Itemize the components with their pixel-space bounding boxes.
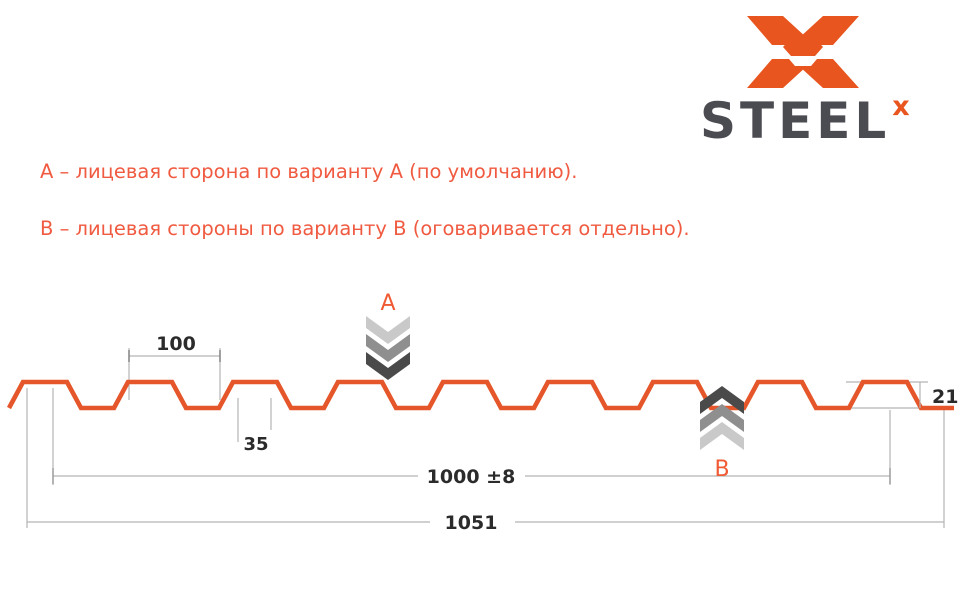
dimension-label-valley: 35 — [243, 434, 268, 455]
steelx-x-mark-icon — [745, 14, 861, 90]
brand-logo: STEEL x — [700, 14, 940, 146]
dimension-valley-35: 35 — [240, 430, 272, 455]
technical-drawing: 100 35 21 1000 ±8 1051 А — [0, 270, 970, 555]
marker-a-letter: А — [380, 291, 395, 316]
brand-wordmark-text: STEEL — [700, 96, 890, 146]
extension-lines — [27, 348, 944, 528]
note-line-variant-a: А – лицевая сторона по варианту А (по ум… — [40, 160, 577, 183]
dimension-working-width-1000: 1000 ±8 — [53, 466, 890, 488]
dimension-height-21: 21 — [920, 382, 958, 408]
dimension-label-working-width: 1000 ±8 — [427, 466, 516, 488]
dimension-label-total-width: 1051 — [445, 512, 498, 534]
brand-wordmark: STEEL x — [700, 96, 940, 146]
marker-b-letter: В — [714, 457, 729, 482]
dimension-label-height: 21 — [932, 386, 958, 408]
marker-b: В — [700, 386, 744, 482]
marker-a-chevrons — [366, 316, 410, 380]
brand-wordmark-superscript: x — [892, 93, 909, 120]
dimension-total-width-1051: 1051 — [27, 512, 944, 534]
dimension-pitch-100: 100 — [129, 332, 220, 362]
dimension-label-pitch: 100 — [156, 333, 196, 355]
note-line-variant-b: В – лицевая стороны по варианту В (огова… — [40, 217, 690, 240]
marker-a: А — [366, 291, 410, 380]
sheet-profile — [9, 382, 954, 408]
